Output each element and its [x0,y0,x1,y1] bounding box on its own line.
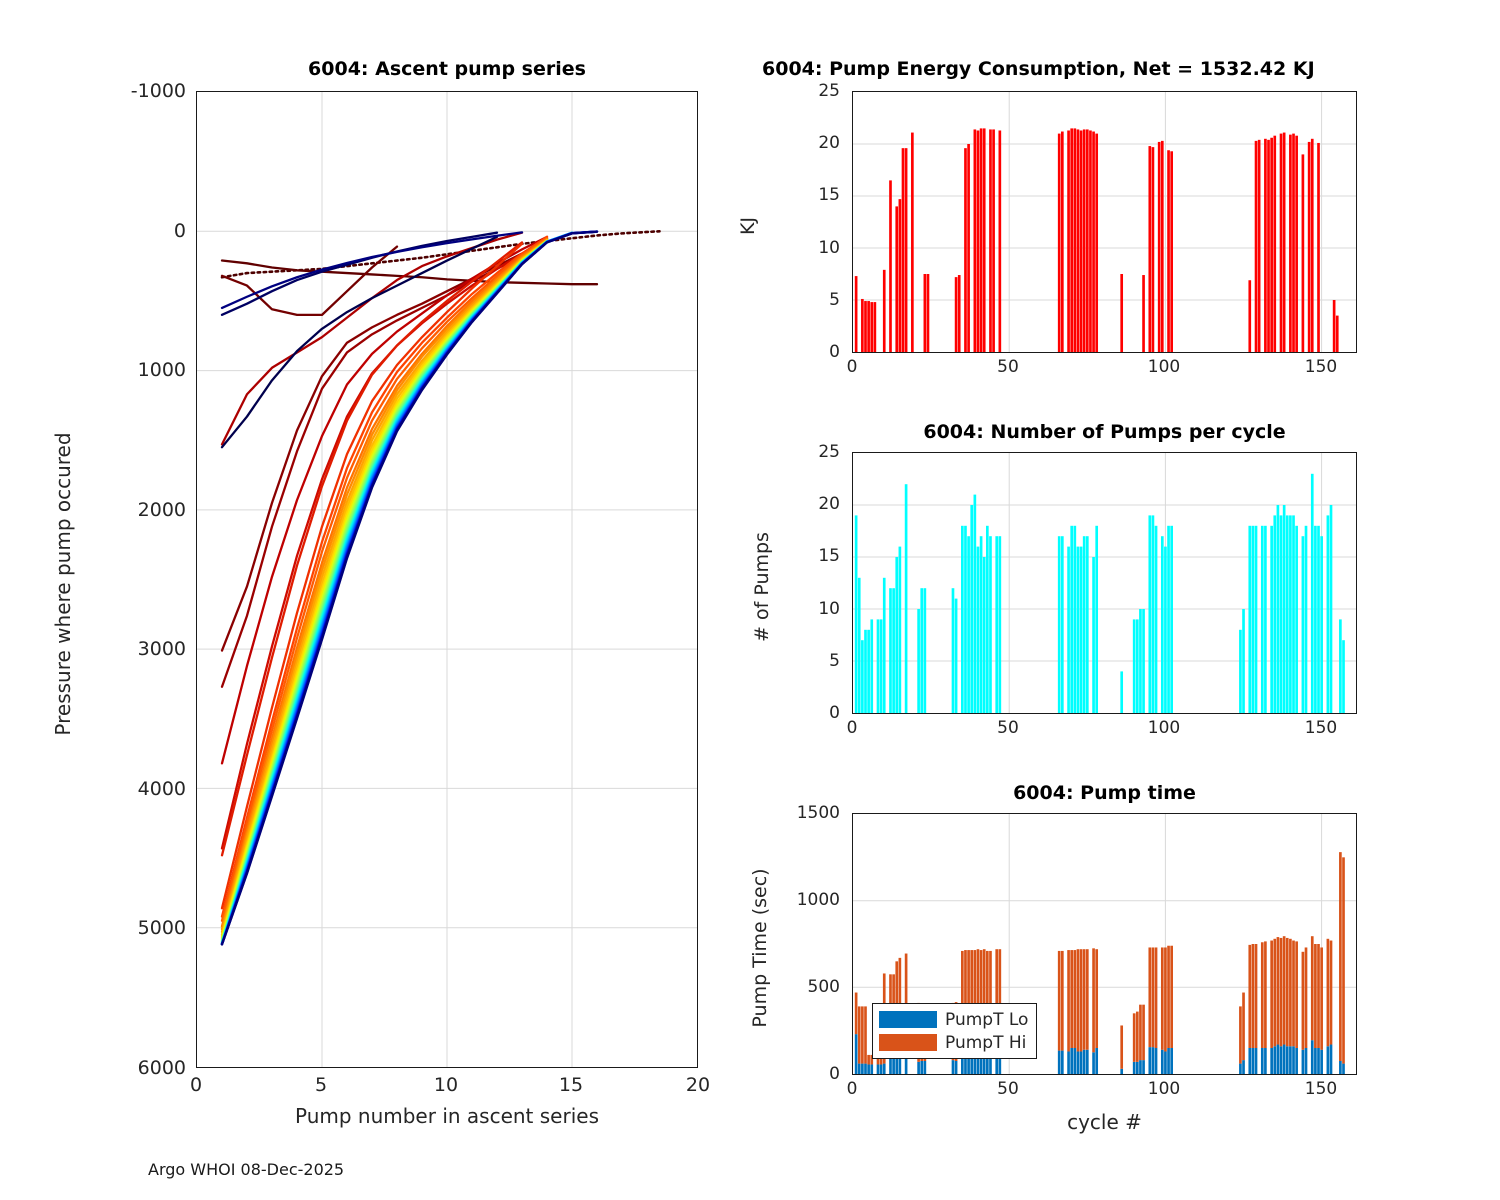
pumptime-hi-bar [1302,952,1305,1050]
energy-bar [861,299,864,352]
numpumps-bar [1239,630,1242,713]
numpumps-plot-svg [853,453,1356,713]
numpumps-bar [924,588,927,713]
pumptime-hi-bar [1073,950,1076,1048]
ascent-plot-frame [196,91,698,1068]
numpumps-bar [999,536,1002,713]
ascent-series-group [222,231,660,944]
energy-bar [1080,130,1083,352]
pumptime-hi-bar [1277,937,1280,1044]
pumptime-hi-bar [1061,951,1064,1051]
numpumps-bar [1133,619,1136,713]
ascent-line [222,233,572,944]
ascent-line [222,241,547,942]
energy-bar [1073,128,1076,352]
ascent-xlabel: Pump number in ascent series [196,1104,698,1128]
energy-bar [883,270,886,352]
numpumps-bar [899,547,902,713]
numpumps-bar [1161,536,1164,713]
pumptime-hi-bar [1080,949,1083,1051]
energy-bar [855,276,858,352]
numpumps-bar [952,588,955,713]
energy-bar [870,302,873,352]
pumptime-lo-bar [864,1064,867,1074]
numpumps-bar [1073,526,1076,713]
ascent-line [222,241,547,941]
pumptime-lo-bar [1330,1045,1333,1074]
numpumps-bar [1295,526,1298,713]
energy-bar [1308,142,1311,352]
ascent-xtick-0: 0 [171,1074,221,1096]
pumptime-lo-bar [1239,1064,1242,1074]
energy-bar [1142,275,1145,352]
figure-footer: Argo WHOI 08-Dec-2025 [148,1160,344,1179]
numpumps-bar [1311,474,1314,713]
pumptime-lo-bar [855,1034,858,1074]
energy-bar [999,130,1002,352]
numpumps-bar [1342,640,1345,713]
legend-row-pumpt-lo: PumpT Lo [879,1010,1030,1030]
numpumps-bar [1148,515,1151,713]
pumptime-hi-bar [1248,945,1251,1048]
numpumps-bar [870,619,873,713]
energy-bar [958,275,961,352]
pumptime-ytick-2: 1000 [760,890,840,910]
ascent-line [222,233,572,944]
ascent-xtick-3: 15 [546,1074,596,1096]
energy-bar [1264,139,1267,352]
ascent-line [222,232,597,945]
ascent-line [222,241,547,939]
ascent-line [222,232,597,945]
energy-bar [924,274,927,352]
energy-bar [867,301,870,352]
ascent-xtick-2: 10 [421,1074,471,1096]
pumptime-lo-bar [1277,1045,1280,1074]
numpumps-bar [1077,547,1080,713]
ascent-line [222,237,547,764]
pumptime-hi-bar [1273,939,1276,1046]
numpumps-bar [1270,526,1273,713]
pumptime-ytick-1: 500 [760,977,840,997]
pumptime-lo-bar [870,1064,873,1074]
numpumps-bar [1142,609,1145,713]
energy-bar [1258,140,1261,352]
numpumps-bar [917,609,920,713]
ascent-line [222,232,597,944]
numpumps-bar [967,536,970,713]
pumptime-hi-bar [1058,951,1061,1051]
pumptime-lo-bar [1289,1046,1292,1074]
numpumps-xtick-3: 150 [1296,718,1346,738]
ascent-line [222,240,547,934]
numpumps-bar [877,619,880,713]
energy-bar [1058,134,1061,352]
numpumps-bar [1339,619,1342,713]
pumptime-hi-bar [1330,941,1333,1045]
numpumps-bar [1320,536,1323,713]
energy-bar [1152,147,1155,352]
numpumps-bar [1314,526,1317,713]
ascent-line [222,232,597,945]
energy-bar [905,148,908,352]
pumptime-lo-bar [1152,1047,1155,1074]
ascent-line [222,233,572,944]
pumptime-lo-bar [1317,1048,1320,1074]
numpumps-bar [864,630,867,713]
pumptime-lo-bar [858,1064,861,1074]
numpumps-bar [1292,515,1295,713]
numpumps-bar [1136,619,1139,713]
energy-ytick-2: 10 [790,238,840,258]
energy-bar [1273,136,1276,352]
ascent-line [222,241,547,941]
pumptime-lo-bar [1261,1048,1264,1074]
ascent-ytick-6: 5000 [90,917,186,939]
energy-bar [1280,134,1283,352]
numpumps-bar [977,547,980,713]
pumptime-lo-bar [1264,1048,1267,1074]
pumptime-lo-bar [1161,1050,1164,1074]
numpumps-bar [1067,547,1070,713]
energy-bar [1170,151,1173,352]
ascent-panel-title: 6004: Ascent pump series [196,58,698,80]
numpumps-bar [1152,515,1155,713]
ascent-ytick-2: 1000 [90,359,186,381]
numpumps-bar [861,640,864,713]
numpumps-ytick-4: 20 [790,494,840,514]
pumptime-lo-bar [1073,1048,1076,1074]
energy-bar [895,206,898,352]
energy-ylabel: KJ [737,166,759,286]
numpumps-bar [1061,536,1064,713]
pumptime-lo-bar [1142,1060,1145,1074]
pumptime-lo-bar [1283,1045,1286,1074]
pumptime-hi-bar [1136,1012,1139,1062]
pumptime-lo-bar [1342,1064,1345,1074]
ascent-line [222,237,547,917]
pumptime-ylabel: Pump Time (sec) [749,808,771,1088]
pumptime-hi-bar [1314,944,1317,1048]
energy-bar [889,180,892,352]
numpumps-bar [964,526,967,713]
pumptime-lo-bar [877,1064,880,1074]
energy-bar [1295,136,1298,352]
pumptime-hi-bar [864,1006,867,1063]
numpumps-bar [1264,526,1267,713]
ascent-line [222,233,572,943]
energy-bar [1089,130,1092,352]
pumptime-lo-bar [1270,1048,1273,1074]
numpumps-bar [974,495,977,713]
pumptime-hi-bar [1311,936,1314,1040]
pumptime-hi-bar [1070,950,1073,1048]
pumptime-hi-bar [1083,949,1086,1050]
pumptime-hi-bar [1095,949,1098,1048]
pumptime-lo-bar [1320,1050,1323,1074]
energy-bar [955,277,958,352]
pumptime-hi-bar [1255,944,1258,1048]
numpumps-bar [1327,515,1330,713]
pumptime-hi-bar [1242,993,1245,1061]
numpumps-bar [1286,515,1289,713]
pumptime-hi-bar [1167,946,1170,1048]
pumptime-lo-bar [1339,1061,1342,1074]
pumptime-hi-bar [1161,947,1164,1049]
pumptime-hi-bar [1289,939,1292,1046]
numpumps-bar [1277,505,1280,713]
numpumps-bar [1164,547,1167,713]
ascent-ytick-0: -1000 [90,80,186,102]
energy-bar [980,128,983,352]
numpumps-bar [880,619,883,713]
pumptime-hi-bar [855,993,858,1035]
numpumps-bar [1255,526,1258,713]
energy-bar [989,129,992,352]
ascent-line [222,241,547,942]
pumptime-lo-bar [880,1064,883,1074]
energy-bar [1083,129,1086,352]
pumptime-lo-bar [1248,1048,1251,1074]
numpumps-bar [1317,526,1320,713]
energy-bar [1289,135,1292,352]
numpumps-bar [1283,505,1286,713]
pumptime-lo-bar [1061,1051,1064,1074]
pumptime-hi-bar [1261,942,1264,1048]
energy-bar [1317,143,1320,352]
numpumps-ytick-1: 5 [790,651,840,671]
energy-plot-svg [853,92,1356,352]
energy-bar [1311,139,1314,352]
pumptime-lo-bar [1067,1051,1070,1074]
energy-ytick-4: 20 [790,133,840,153]
pumptime-hi-bar [1292,941,1295,1047]
numpumps-bar [1155,526,1158,713]
energy-bar [911,133,914,352]
pumptime-lo-bar [1095,1048,1098,1074]
pumptime-xtick-3: 150 [1296,1079,1346,1099]
pumptime-xlabel: cycle # [852,1110,1357,1134]
energy-bar [1255,141,1258,352]
legend-swatch-pumpt-hi [879,1034,937,1051]
ascent-line [222,232,597,945]
numpumps-bar [1252,526,1255,713]
pumptime-lo-bar [1077,1051,1080,1074]
pumptime-hi-bar [1295,941,1298,1048]
pumptime-hi-bar [1139,1005,1142,1060]
energy-bar [1148,146,1151,352]
pumptime-hi-bar [1239,1006,1242,1063]
pumptime-lo-bar [920,1061,923,1074]
pumptime-hi-bar [1170,946,1173,1048]
ascent-line [222,240,547,936]
numpumps-bar [989,536,992,713]
energy-bar [983,128,986,352]
numpumps-bar [1273,515,1276,713]
energy-bar [977,130,980,352]
numpumps-bar [1095,526,1098,713]
pumptime-lo-bar [1083,1050,1086,1074]
ascent-ytick-4: 3000 [90,638,186,660]
numpumps-bar [1080,547,1083,713]
numpumps-bar [1280,515,1283,713]
pumptime-hi-bar [1317,944,1320,1048]
numpumps-bars-group [855,474,1345,713]
numpumps-bar [1083,536,1086,713]
numpumps-bar [1248,526,1251,713]
numpumps-bar [1058,536,1061,713]
numpumps-bar [1167,526,1170,713]
pumptime-lo-bar [1311,1040,1314,1074]
pumptime-xtick-2: 100 [1139,1079,1189,1099]
pumptime-lo-bar [917,1062,920,1074]
pumptime-lo-bar [1167,1048,1170,1074]
energy-bar [1161,141,1164,352]
pumptime-hi-bar [1133,1013,1136,1062]
pumptime-legend: PumpT Lo PumpT Hi [872,1003,1037,1059]
pumptime-lo-bar [1133,1062,1136,1074]
energy-bar [1158,142,1161,352]
numpumps-bar [1120,671,1123,713]
pumptime-lo-bar [1120,1069,1123,1074]
energy-bar [927,274,930,352]
energy-bar [1070,128,1073,352]
energy-xtick-0: 0 [827,357,877,377]
pumptime-lo-bar [1292,1046,1295,1074]
pumptime-lo-bar [1058,1051,1061,1074]
energy-ytick-1: 5 [790,290,840,310]
energy-bar [1092,132,1095,352]
legend-label-pumpt-hi: PumpT Hi [945,1033,1026,1053]
numpumps-bar [986,526,989,713]
ascent-line [222,233,572,944]
numpumps-xtick-0: 0 [827,718,877,738]
numpumps-bar [905,484,908,713]
numpumps-bar [1302,536,1305,713]
ascent-line [222,233,572,943]
pumptime-lo-bar [1139,1060,1142,1074]
ascent-ytick-5: 4000 [90,778,186,800]
ascent-plot-svg [197,92,697,1067]
ascent-ytick-3: 2000 [90,499,186,521]
energy-bar [1283,133,1286,352]
energy-bar [1267,140,1270,352]
numpumps-bar [1170,526,1173,713]
numpumps-ytick-5: 25 [790,442,840,462]
numpumps-ytick-3: 15 [790,546,840,566]
energy-bar [874,302,877,352]
legend-row-pumpt-hi: PumpT Hi [879,1033,1030,1053]
pumptime-lo-bar [892,1058,895,1074]
ascent-xtick-1: 5 [296,1074,346,1096]
pumptime-hi-bar [1283,936,1286,1044]
energy-xtick-3: 150 [1296,357,1346,377]
pumptime-lo-bar [1327,1046,1330,1074]
pumptime-lo-bar [1155,1048,1158,1074]
numpumps-bar [855,515,858,713]
energy-bar [1086,129,1089,352]
energy-bar [1292,134,1295,352]
pumptime-lo-bar [1242,1060,1245,1074]
pumptime-lo-bar [1305,1048,1308,1074]
numpumps-xtick-1: 50 [983,718,1033,738]
legend-label-pumpt-lo: PumpT Lo [945,1010,1028,1030]
ascent-line [222,241,547,940]
energy-plot-frame [852,91,1357,353]
pumptime-lo-bar [1136,1062,1139,1074]
pumptime-lo-bar [1252,1048,1255,1074]
energy-bar [864,301,867,352]
pumptime-hi-bar [1155,947,1158,1048]
ascent-ylabel: Pressure where pump occured [51,284,75,884]
ascent-ytick-1: 0 [90,220,186,242]
ascent-line [222,232,597,945]
pumptime-hi-bar [1120,1025,1123,1068]
pumptime-lo-bar [1280,1046,1283,1074]
pumptime-lo-bar [952,1060,955,1074]
pumptime-lo-bar [1148,1047,1151,1074]
pumptime-hi-bar [1086,949,1089,1050]
pumptime-lo-bar [1164,1051,1167,1074]
numpumps-bar [1305,526,1308,713]
pumptime-hi-bar [1077,949,1080,1051]
numpumps-plot-frame [852,452,1357,714]
energy-bar [1095,134,1098,352]
numpumps-bar [955,599,958,713]
numpumps-bar [895,557,898,713]
energy-bar [899,199,902,352]
pumptime-hi-bar [861,1006,864,1063]
pumptime-hi-bar [1270,941,1273,1048]
numpumps-bar [1330,505,1333,713]
numpumps-bar [980,536,983,713]
pumptime-hi-bar [1342,857,1345,1063]
energy-xtick-2: 100 [1139,357,1189,377]
pumptime-lo-bar [955,1061,958,1074]
pumptime-lo-bar [1080,1051,1083,1074]
pumptime-lo-bar [1092,1052,1095,1074]
energy-bar [1248,280,1251,352]
pumptime-lo-bar [861,1064,864,1074]
energy-bar [974,129,977,352]
pumptime-hi-bar [1164,947,1167,1051]
pumptime-hi-bar [1142,1005,1145,1060]
energy-panel-title: 6004: Pump Energy Consumption, Net = 153… [762,58,1492,80]
pumptime-lo-bar [1295,1048,1298,1074]
numpumps-xtick-2: 100 [1139,718,1189,738]
pumptime-hi-bar [1148,947,1151,1047]
energy-bar [1167,150,1170,352]
pumptime-lo-bar [1086,1050,1089,1074]
numpumps-bar [1242,609,1245,713]
pumptime-hi-bar [1286,938,1289,1046]
energy-bar [1270,138,1273,352]
energy-bars-group [855,128,1339,352]
pumptime-hi-bar [1327,939,1330,1046]
pumptime-hi-bar [1320,947,1323,1049]
numpumps-bar [970,505,973,713]
energy-bar [1120,274,1123,352]
pumptime-lo-bar [1302,1050,1305,1074]
energy-bar [1336,316,1339,352]
energy-bar [902,148,905,352]
pumptime-hi-bar [1092,948,1095,1052]
energy-bar [1061,132,1064,352]
pumptime-hi-bar [858,1006,861,1063]
pumptime-hi-bar [1280,938,1283,1046]
energy-bar [964,148,967,352]
ascent-xtick-4: 20 [673,1074,723,1096]
